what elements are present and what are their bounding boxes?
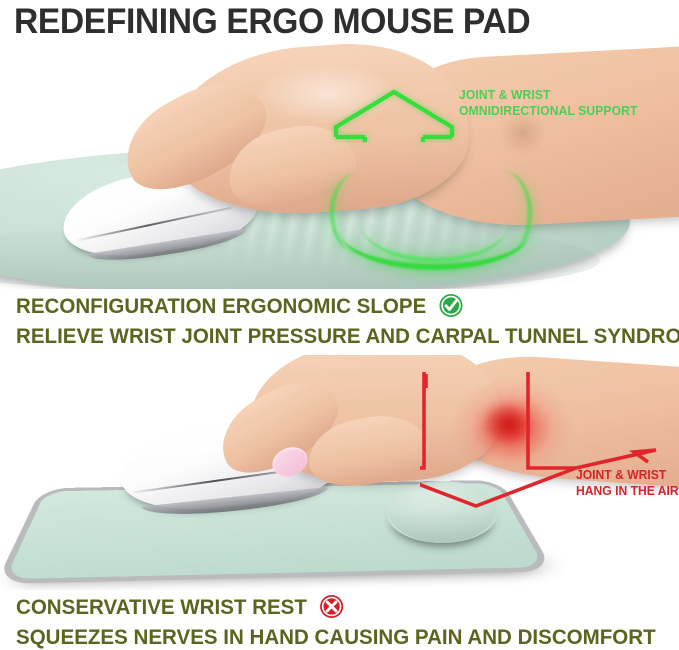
hand-on-ergonomic-pad [108,44,679,272]
green-check-circle-icon [438,293,463,318]
red-annotation: JOINT & WRIST HANG IN THE AIR [576,468,679,499]
benefit-line-2: RELIEVE WRIST JOINT PRESSURE AND CARPAL … [16,323,646,349]
product-marketing-image: REDEFINING ERGO MOUSE PAD [0,0,679,650]
top-product-photo: JOINT & WRIST OMNIDIRECTIONAL SUPPORT [0,44,679,289]
drawback-line-1-text: CONSERVATIVE WRIST REST [16,595,307,619]
green-annotation-line1: JOINT & WRIST [459,88,672,104]
green-annotation: JOINT & WRIST OMNIDIRECTIONAL SUPPORT [459,88,672,119]
drawback-text-block: CONSERVATIVE WRIST REST SQUEEZES NERVES … [16,594,676,650]
drawback-line-1: CONSERVATIVE WRIST REST [16,594,646,620]
red-x-circle-icon [319,594,344,619]
bottom-product-photo: JOINT & WRIST HANG IN THE AIR [0,355,679,590]
benefit-line-1: RECONFIGURATION ERGONOMIC SLOPE [16,293,646,319]
red-annotation-line2: HANG IN THE AIR [576,484,679,500]
benefit-line-1-text: RECONFIGURATION ERGONOMIC SLOPE [16,294,426,318]
green-annotation-line2: OMNIDIRECTIONAL SUPPORT [459,104,672,120]
page-title: REDEFINING ERGO MOUSE PAD [14,2,638,42]
drawback-line-2: SQUEEZES NERVES IN HAND CAUSING PAIN AND… [16,624,646,650]
benefit-text-block: RECONFIGURATION ERGONOMIC SLOPE RELIEVE … [16,293,676,349]
arrow-up-outline-icon [333,88,455,142]
red-annotation-line1: JOINT & WRIST [576,468,679,484]
